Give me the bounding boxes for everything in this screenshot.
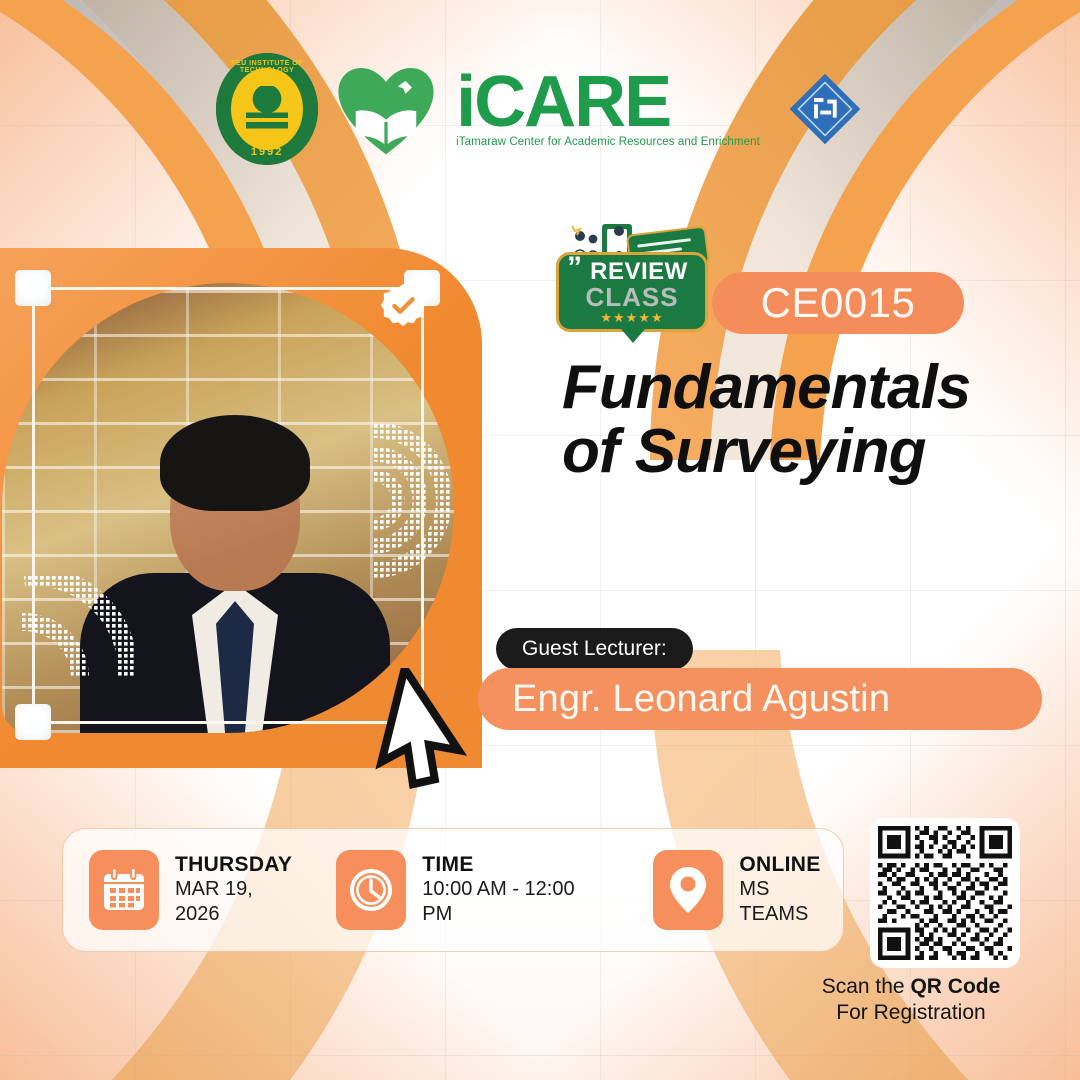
halftone-arc-decoration-right bbox=[374, 418, 484, 578]
course-code-text: CE0015 bbox=[761, 279, 916, 327]
info-date-day: THURSDAY bbox=[175, 853, 302, 877]
icare-tagline: iTamaraw Center for Academic Resources a… bbox=[456, 136, 760, 148]
qr-code[interactable] bbox=[878, 826, 1012, 960]
location-pin-icon-tile bbox=[653, 850, 723, 930]
qr-caption-prefix: Scan the bbox=[822, 975, 911, 998]
qr-caption-line-2: For Registration bbox=[800, 1000, 1022, 1026]
frame-line-bottom bbox=[32, 721, 424, 724]
qr-caption: Scan the QR Code For Registration bbox=[800, 974, 1022, 1027]
course-code-pill: CE0015 bbox=[712, 272, 964, 334]
frame-handle-bottom-left[interactable] bbox=[15, 704, 51, 740]
feu-seal-arc-text: FEU INSTITUTE OF TECHNOLOGY bbox=[216, 60, 318, 74]
halftone-arc-decoration-left bbox=[16, 576, 136, 686]
frame-line-top bbox=[32, 287, 424, 290]
mouse-cursor-decoration bbox=[372, 668, 482, 796]
clock-icon-tile bbox=[336, 850, 406, 930]
review-badge-line-1: REVIEW bbox=[590, 260, 688, 284]
icare-wordmark: iCARE bbox=[456, 69, 670, 135]
feu-seal-logo: FEU INSTITUTE OF TECHNOLOGY 1992 bbox=[216, 53, 318, 165]
poster-root: FEU INSTITUTE OF TECHNOLOGY 1992 iCARE i… bbox=[0, 0, 1080, 1080]
review-badge-line-2: CLASS bbox=[585, 284, 678, 310]
qr-caption-line-1: Scan the QR Code bbox=[800, 974, 1022, 1000]
clock-icon bbox=[348, 867, 394, 913]
calendar-icon bbox=[102, 867, 146, 913]
info-text-time: TIME 10:00 AM - 12:00 PM bbox=[422, 853, 609, 927]
location-pin-icon bbox=[668, 865, 708, 915]
guest-lecturer-name: Engr. Leonard Agustin bbox=[512, 678, 890, 721]
frame-handle-top-left[interactable] bbox=[15, 270, 51, 306]
photo-subject-hair bbox=[160, 415, 310, 511]
info-text-venue: ONLINE MS TEAMS bbox=[739, 853, 843, 927]
verified-check-badge-icon bbox=[380, 283, 426, 329]
icare-wordmark-block: iCARE iTamaraw Center for Academic Resou… bbox=[456, 69, 760, 148]
guest-lecturer-name-pill: Engr. Leonard Agustin bbox=[478, 668, 1042, 730]
lecturer-photo-panel bbox=[0, 248, 482, 768]
calendar-icon-tile bbox=[89, 850, 159, 930]
info-venue-label: ONLINE bbox=[739, 853, 843, 877]
review-class-badge: ★★★★★ ” REVIEW CLASS ★★★★★ bbox=[554, 224, 704, 334]
quote-mark-icon: ” bbox=[567, 259, 582, 277]
course-title-line-1: Fundamentals bbox=[562, 356, 1042, 420]
info-date-value: MAR 19, 2026 bbox=[175, 877, 302, 927]
pixel-heart-book-icon bbox=[332, 55, 440, 163]
info-time-label: TIME bbox=[422, 853, 609, 877]
info-text-date: THURSDAY MAR 19, 2026 bbox=[175, 853, 302, 927]
logo-row: FEU INSTITUTE OF TECHNOLOGY 1992 iCARE i… bbox=[0, 46, 1080, 171]
review-badge-card-line-1 bbox=[637, 238, 691, 248]
course-title: Fundamentals of Surveying bbox=[562, 356, 1042, 484]
guest-lecturer-label: Guest Lecturer: bbox=[522, 637, 667, 661]
event-info-bar: THURSDAY MAR 19, 2026 TIME 10:00 AM - 12… bbox=[62, 828, 844, 952]
info-venue-value: MS TEAMS bbox=[739, 877, 843, 927]
guest-lecturer-label-tag: Guest Lecturer: bbox=[496, 628, 693, 670]
info-item-date: THURSDAY MAR 19, 2026 bbox=[63, 850, 302, 930]
review-badge-body: ” REVIEW CLASS ★★★★★ bbox=[556, 252, 708, 332]
blue-diamond-logo bbox=[786, 70, 864, 148]
info-item-venue: ONLINE MS TEAMS bbox=[609, 850, 843, 930]
qr-caption-strong: QR Code bbox=[910, 975, 1000, 998]
feu-seal-year: 1992 bbox=[216, 146, 318, 158]
info-item-time: TIME 10:00 AM - 12:00 PM bbox=[302, 850, 609, 930]
info-time-value: 10:00 AM - 12:00 PM bbox=[422, 877, 609, 927]
course-title-line-2: of Surveying bbox=[562, 420, 1042, 484]
review-badge-stars: ★★★★★ bbox=[600, 311, 663, 324]
qr-code-card[interactable] bbox=[870, 818, 1020, 968]
